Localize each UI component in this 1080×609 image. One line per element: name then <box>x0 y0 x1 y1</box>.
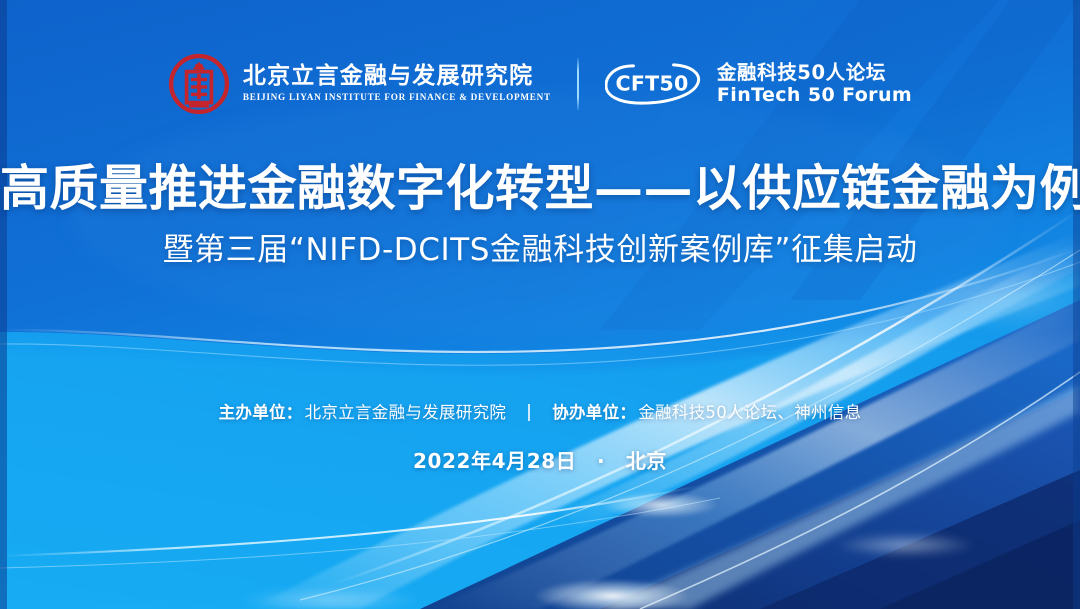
cft50-wordmark: 金融科技50人论坛 FinTech 50 Forum <box>717 61 912 106</box>
logo-divider <box>577 58 579 110</box>
credit-separator <box>528 404 530 421</box>
liyan-seal-icon <box>168 53 230 115</box>
organizer-line: 主办单位： 北京立言金融与发展研究院 协办单位： 金融科技50人论坛、神州信息 <box>0 399 1080 423</box>
poster-title: 高质量推进金融数字化转型——以供应链金融为例 <box>0 160 1080 217</box>
institute-name-en: BEIJING LIYAN INSTITUTE FOR FINANCE & DE… <box>243 93 551 102</box>
date-location-separator: · <box>597 449 605 473</box>
liyan-institute-wordmark: 北京立言金融与发展研究院 BEIJING LIYAN INSTITUTE FOR… <box>243 65 551 102</box>
cft50-logo-icon: CFT50 <box>605 58 703 110</box>
date-location-line: 2022年4月28日 · 北京 <box>0 445 1080 474</box>
poster-subtitle: 暨第三届“NIFD-DCITS金融科技创新案例库”征集启动 <box>0 232 1080 269</box>
headline-block: 高质量推进金融数字化转型——以供应链金融为例 暨第三届“NIFD-DCITS金融… <box>0 160 1080 269</box>
cohost-label: 协办单位： <box>552 399 636 423</box>
cohost-value: 金融科技50人论坛、神州信息 <box>638 399 861 423</box>
event-poster: 北京立言金融与发展研究院 BEIJING LIYAN INSTITUTE FOR… <box>0 0 1080 609</box>
svg-text:CFT50: CFT50 <box>615 71 688 95</box>
credits-block: 主办单位： 北京立言金融与发展研究院 协办单位： 金融科技50人论坛、神州信息 … <box>0 399 1080 474</box>
logo-bar: 北京立言金融与发展研究院 BEIJING LIYAN INSTITUTE FOR… <box>0 48 1080 120</box>
host-value: 北京立言金融与发展研究院 <box>305 399 507 423</box>
institute-name-cn: 北京立言金融与发展研究院 <box>243 65 551 88</box>
forum-name-en: FinTech 50 Forum <box>717 84 912 106</box>
host-label: 主办单位： <box>219 399 303 423</box>
cft50-logo: CFT50 金融科技50人论坛 FinTech 50 Forum <box>605 58 912 110</box>
event-location: 北京 <box>626 449 667 473</box>
liyan-institute-logo: 北京立言金融与发展研究院 BEIJING LIYAN INSTITUTE FOR… <box>168 53 551 115</box>
event-date: 2022年4月28日 <box>413 449 576 473</box>
forum-name-cn: 金融科技50人论坛 <box>717 61 912 84</box>
